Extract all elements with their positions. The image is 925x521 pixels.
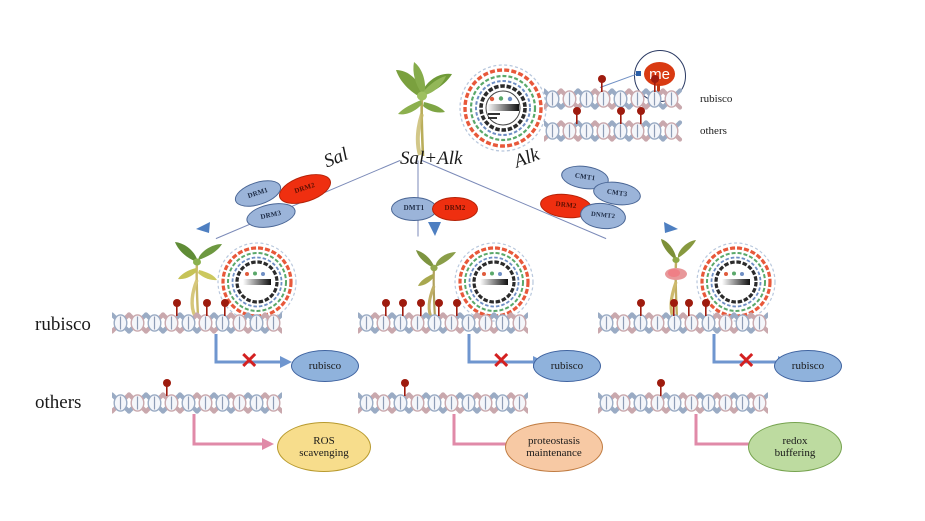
top-dna-others-label: others: [700, 125, 727, 137]
outcome-rubisco-alk[interactable]: rubisco: [774, 350, 842, 382]
outcome-others-sal[interactable]: ROS scavenging: [277, 422, 371, 472]
gene-ellipse-salalk-dmt1[interactable]: DMT1: [391, 197, 437, 221]
top-genome-plot: [457, 62, 549, 154]
block-x-sal: ✕: [240, 350, 258, 372]
marks-rubisco-sal: [112, 298, 282, 316]
outcome-label-line2: maintenance: [526, 447, 582, 459]
row-label-others: others: [35, 392, 81, 414]
marks-others-alk: [598, 378, 768, 396]
marks-rubisco-salalk: [358, 298, 528, 316]
top-dna-rubisco-label: rubisco: [700, 93, 732, 105]
outcome-label-line2: buffering: [775, 447, 816, 459]
gene-label: DRM2: [294, 182, 316, 195]
block-x-alk: ✕: [737, 350, 755, 372]
gene-ellipse-salalk-drm2[interactable]: DRM2: [432, 197, 478, 221]
outcome-rubisco-salalk[interactable]: rubisco: [533, 350, 601, 382]
top-plant-image: [388, 52, 458, 160]
block-x-salalk: ✕: [492, 350, 510, 372]
marks-rubisco-alk: [598, 298, 768, 316]
activate-arrow-sal: [190, 414, 286, 452]
marks-others-sal: [112, 378, 282, 396]
top-rubisco-marks: [544, 74, 694, 92]
gene-label: DNMT2: [591, 211, 616, 220]
outcome-label-line1: proteostasis: [528, 435, 580, 447]
outcome-others-alk[interactable]: redox buffering: [748, 422, 842, 472]
gene-label: DRM3: [260, 210, 282, 222]
treatment-label-sal-alk: Sal+Alk: [400, 148, 462, 170]
gene-label: DMT1: [404, 205, 425, 212]
top-others-marks: [544, 106, 694, 124]
marks-others-salalk: [358, 378, 528, 396]
treatment-label-sal: Sal: [321, 144, 352, 173]
outcome-label: rubisco: [551, 360, 583, 372]
outcome-rubisco-sal[interactable]: rubisco: [291, 350, 359, 382]
row-label-rubisco: rubisco: [35, 314, 91, 336]
gene-label: DRM1: [247, 187, 269, 200]
outcome-label-line1: ROS: [313, 435, 334, 447]
outcome-label-line2: scavenging: [299, 447, 348, 459]
outcome-label-line1: redox: [782, 435, 807, 447]
gene-label: CMT1: [574, 172, 595, 182]
outcome-others-salalk[interactable]: proteostasis maintenance: [505, 422, 603, 472]
gene-label: DRM2: [555, 201, 577, 211]
outcome-label: rubisco: [792, 360, 824, 372]
gene-label: CMT3: [606, 188, 627, 198]
gene-label: DRM2: [444, 205, 465, 212]
outcome-label: rubisco: [309, 360, 341, 372]
